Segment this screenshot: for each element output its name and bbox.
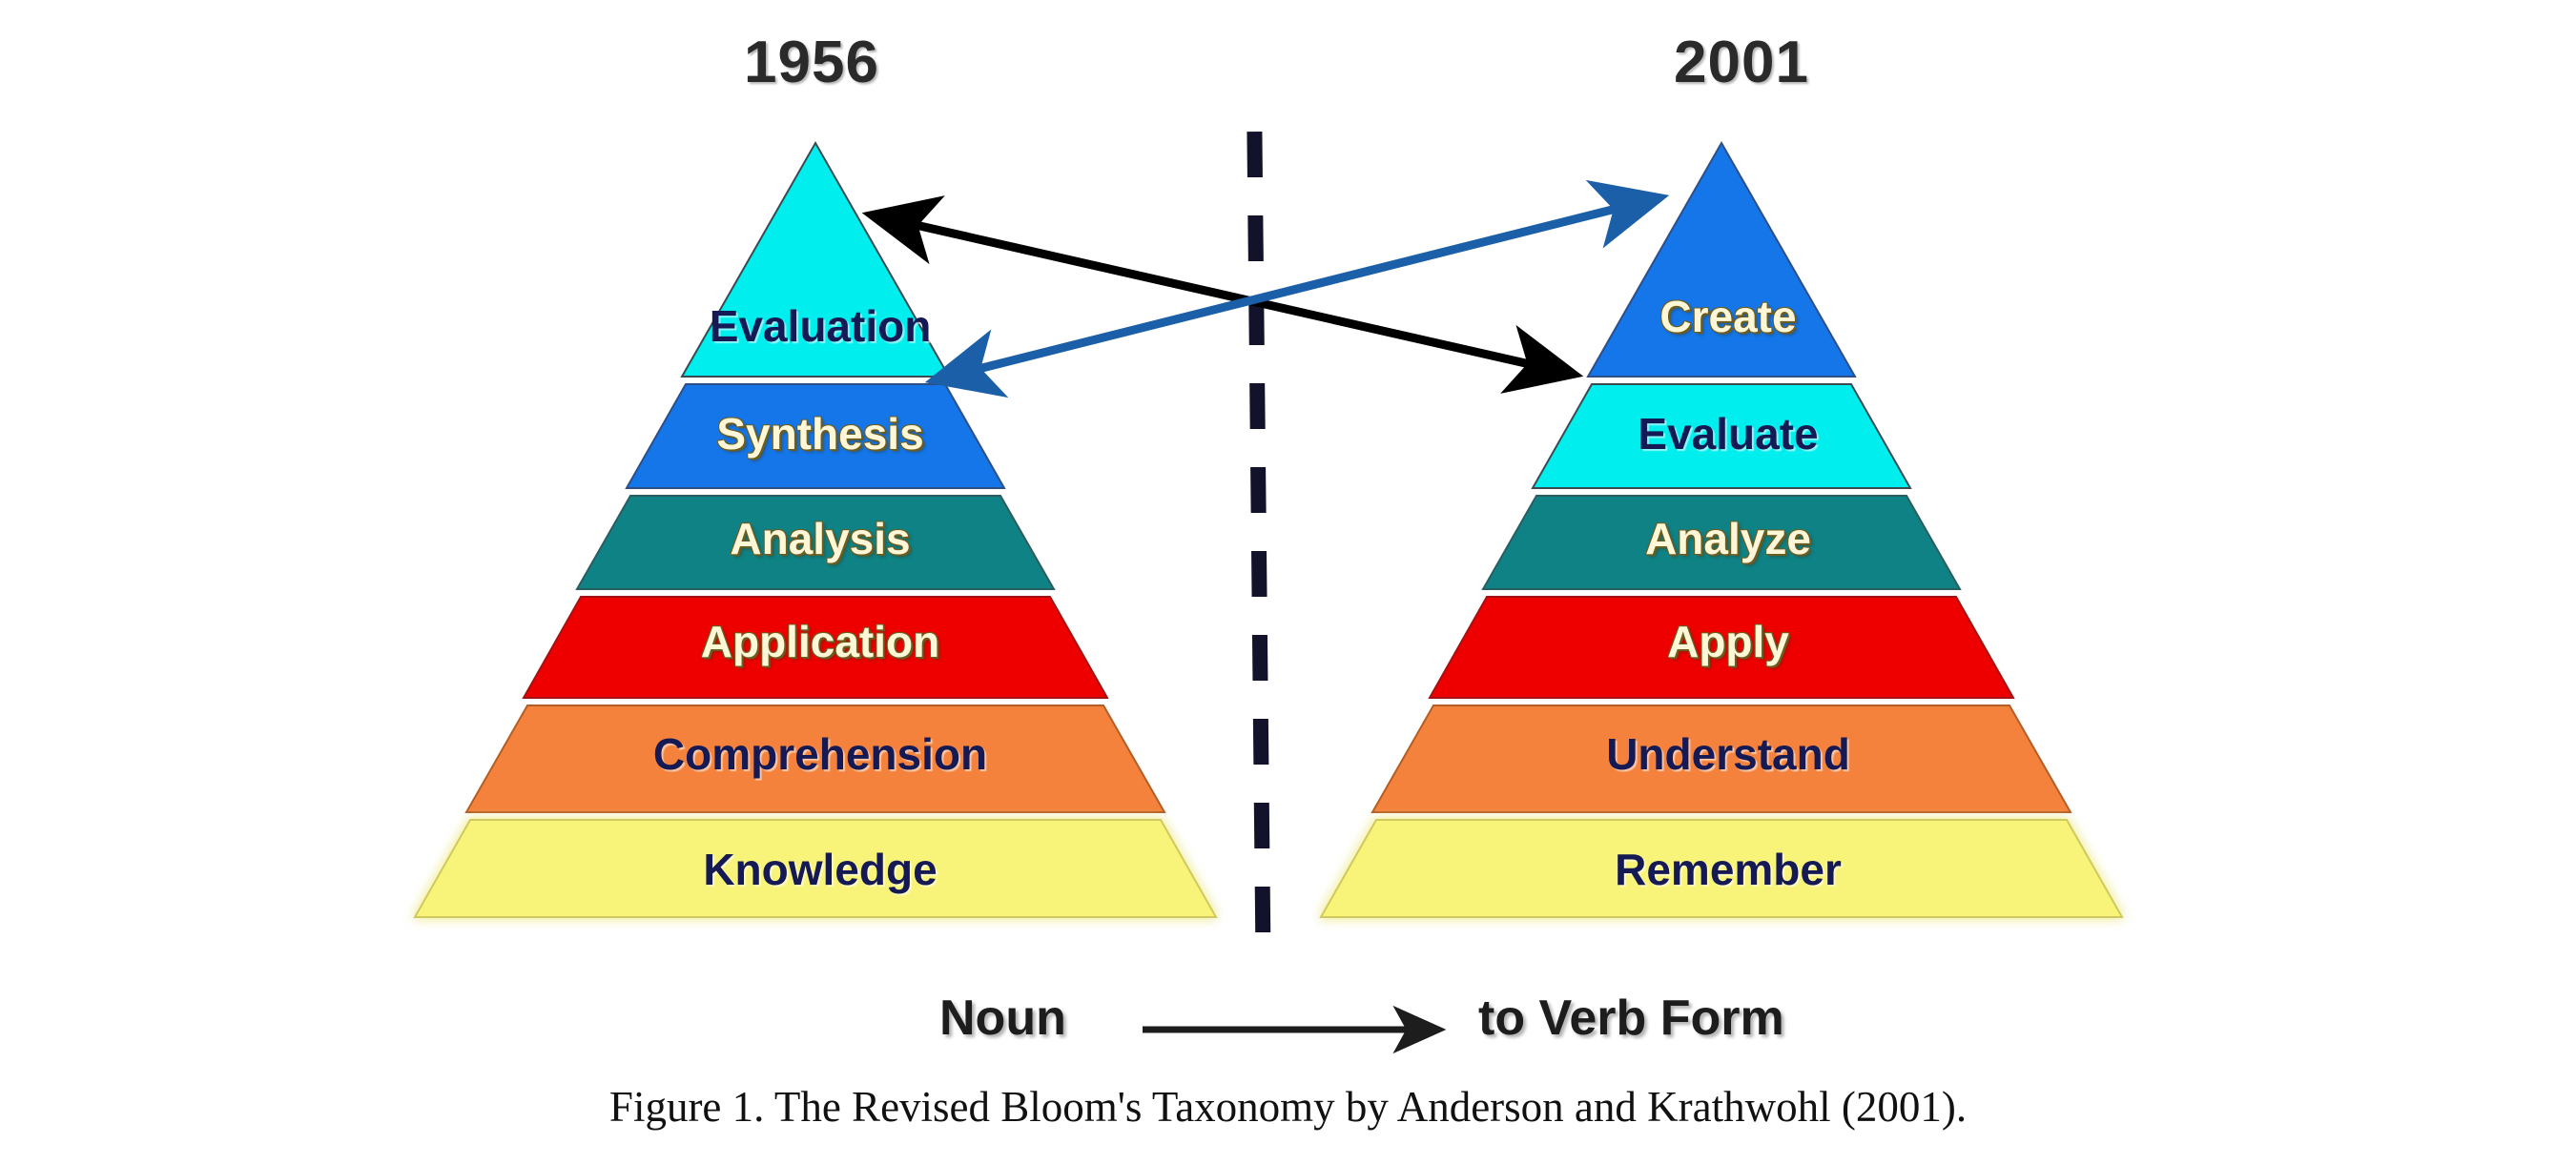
pyramid-2001-level-apply[interactable] xyxy=(1430,597,2013,698)
pyramid-2001-level-remember[interactable] xyxy=(1321,820,2122,917)
pyramid-1956-shapes xyxy=(362,133,1278,934)
pyramid-1956: Evaluation Synthesis Analysis Applicatio… xyxy=(362,133,1278,934)
pyramid-1956-level-comprehension[interactable] xyxy=(466,705,1164,812)
noun-to-verb-arrow xyxy=(1135,1001,1459,1058)
pyramid-1956-level-knowledge[interactable] xyxy=(415,820,1216,917)
pyramid-2001-shapes xyxy=(1259,133,2174,934)
pyramid-2001-level-analyze[interactable] xyxy=(1483,496,1960,589)
figure-caption: Figure 1. The Revised Bloom's Taxonomy b… xyxy=(0,1082,2576,1132)
pyramid-2001-level-understand[interactable] xyxy=(1372,705,2071,812)
pyramid-1956-level-application[interactable] xyxy=(524,597,1107,698)
pyramid-2001-level-evaluate[interactable] xyxy=(1533,384,1910,488)
verb-form-label: to Verb Form xyxy=(1478,990,1784,1047)
pyramid-1956-level-analysis[interactable] xyxy=(577,496,1054,589)
year-label-1956: 1956 xyxy=(744,29,879,96)
figure-canvas: 1956 2001 Evaluation Synthe xyxy=(0,0,2576,1164)
pyramid-2001-level-create[interactable] xyxy=(1588,143,1855,377)
year-label-2001: 2001 xyxy=(1674,29,1809,96)
pyramid-1956-level-synthesis[interactable] xyxy=(627,384,1004,488)
pyramid-1956-level-evaluation[interactable] xyxy=(682,143,949,377)
noun-to-verb-row: Noun to Verb Form xyxy=(0,972,2576,1077)
noun-label: Noun xyxy=(939,990,1066,1047)
pyramid-2001: Create Evaluate Analyze Apply Understand… xyxy=(1259,133,2174,934)
